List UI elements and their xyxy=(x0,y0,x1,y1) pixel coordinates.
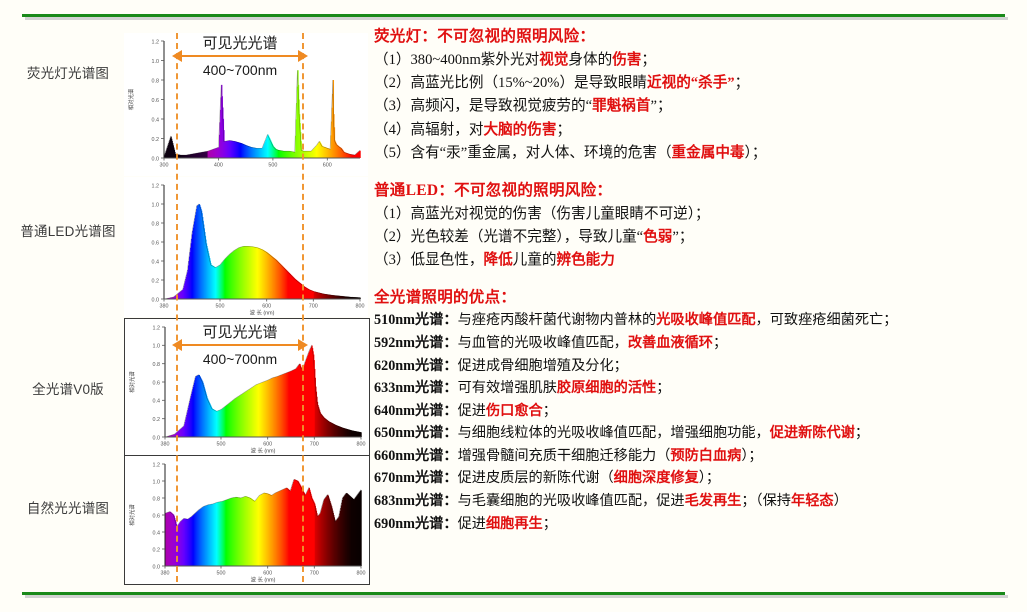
highlight-text: 伤口愈合 xyxy=(486,403,543,419)
svg-text:400: 400 xyxy=(214,163,223,169)
svg-text:0.2: 0.2 xyxy=(152,278,160,284)
svg-text:800: 800 xyxy=(356,304,365,310)
highlight-text: 预防白血病 xyxy=(670,448,741,464)
svg-text:0.8: 0.8 xyxy=(153,362,161,368)
body-text: ； xyxy=(641,52,656,68)
wavelength-label: 510nm光谱： xyxy=(374,312,458,328)
svg-text:700: 700 xyxy=(310,571,319,577)
svg-text:500: 500 xyxy=(216,304,225,310)
svg-text:0.0: 0.0 xyxy=(152,297,160,303)
body-text: 可有效增强肌肤 xyxy=(458,380,557,396)
svg-text:1.2: 1.2 xyxy=(153,325,161,331)
body-text: 与痤疮丙酸杆菌代谢物内普林的 xyxy=(458,312,657,328)
chart-label-3: 全光谱V0版 xyxy=(14,378,122,398)
svg-text:波 长 (nm): 波 长 (nm) xyxy=(251,447,276,455)
svg-text:相对光谱: 相对光谱 xyxy=(127,88,135,110)
text-line: （2）光色较差（光谱不完整），导致儿童“色弱”； xyxy=(374,226,1022,248)
body-text: ）； xyxy=(741,448,762,464)
svg-text:0.2: 0.2 xyxy=(153,547,161,553)
body-text: ；（保持 xyxy=(741,493,791,509)
body-text: ，可致痤疮细菌死亡； xyxy=(756,312,898,328)
body-text: ； xyxy=(855,425,869,441)
body-text: ； xyxy=(656,380,670,396)
text-line: （1）380~400nm紫外光对视觉身体的伤害； xyxy=(374,49,1022,71)
body-text: 与血管的光吸收峰值匹配， xyxy=(458,335,628,351)
bottom-green-rule xyxy=(22,592,1005,595)
text-block-2: 普通LED：不可忽视的照明风险：（1）高蓝光对视觉的伤害（伤害儿童眼睛不可逆）；… xyxy=(374,178,1022,272)
text-block-1: 荧光灯：不可忽视的照明风险：（1）380~400nm紫外光对视觉身体的伤害；（2… xyxy=(374,24,1022,164)
wavelength-label: 592nm光谱： xyxy=(374,335,458,351)
body-text: （2）光色较差（光谱不完整），导致儿童“ xyxy=(374,229,643,245)
text-line: （4）高辐射，对大脑的伤害； xyxy=(374,119,1022,141)
visible-band-right-guide xyxy=(302,33,304,582)
svg-text:0.6: 0.6 xyxy=(153,380,161,386)
slide-page: 荧光灯光谱图0.00.20.40.60.81.01.2300400500600相… xyxy=(0,0,1027,612)
highlight-text: 毛发再生 xyxy=(685,493,742,509)
svg-text:600: 600 xyxy=(263,442,272,448)
highlight-text: 视觉 xyxy=(539,52,568,68)
wavelength-label: 620nm光谱： xyxy=(374,358,458,374)
text-line: 592nm光谱：与血管的光吸收峰值匹配，改善血液循环； xyxy=(374,333,1022,355)
body-text: （2）高蓝光比例（15%~20%）是导致眼睛 xyxy=(374,75,647,91)
text-block-heading-1: 荧光灯：不可忽视的照明风险： xyxy=(374,24,1022,46)
svg-text:0.6: 0.6 xyxy=(152,98,160,104)
highlight-text: 促进新陈代谢 xyxy=(770,425,855,441)
body-text: ）； xyxy=(699,470,720,486)
svg-text:0.8: 0.8 xyxy=(153,496,161,502)
body-text: 促进 xyxy=(458,403,486,419)
body-text: ”； xyxy=(650,98,671,114)
svg-text:0.2: 0.2 xyxy=(153,417,161,423)
text-line: 510nm光谱：与痤疮丙酸杆菌代谢物内普林的光吸收峰值匹配，可致痤疮细菌死亡； xyxy=(374,310,1022,332)
svg-text:380: 380 xyxy=(161,571,170,577)
text-line: 670nm光谱：促进皮质层的新陈代谢（细胞深度修复）； xyxy=(374,468,1022,490)
body-text: 促进 xyxy=(458,516,486,532)
svg-text:0.0: 0.0 xyxy=(153,564,161,570)
text-line: 620nm光谱：促进成骨细胞增殖及分化； xyxy=(374,356,1022,378)
highlight-text: 年轻态 xyxy=(791,493,834,509)
highlight-text: 近视的“杀手” xyxy=(647,75,735,91)
body-text: 与毛囊细胞的光吸收峰值匹配，促进 xyxy=(458,493,685,509)
svg-text:1.0: 1.0 xyxy=(153,479,161,485)
body-text: （4）高辐射，对 xyxy=(374,122,483,138)
chart-label-4: 自然光光谱图 xyxy=(14,497,122,517)
spectrum-chart-3: 0.00.20.40.60.81.01.2380500600700800波 长 … xyxy=(124,318,370,456)
chart-label-2: 普通LED光谱图 xyxy=(14,220,122,240)
body-text: 促进成骨细胞增殖及分化； xyxy=(458,358,628,374)
svg-text:500: 500 xyxy=(217,571,226,577)
svg-text:1.0: 1.0 xyxy=(153,344,161,350)
svg-text:0.8: 0.8 xyxy=(152,78,160,84)
highlight-text: 罪魁祸首 xyxy=(592,98,650,114)
text-line: 640nm光谱：促进伤口愈合； xyxy=(374,401,1022,423)
text-line: 690nm光谱：促进细胞再生； xyxy=(374,514,1022,536)
text-line: 660nm光谱：增强骨髓间充质干细胞迁移能力（预防白血病）； xyxy=(374,446,1022,468)
wavelength-label: 683nm光谱： xyxy=(374,493,458,509)
text-block-heading-2: 普通LED：不可忽视的照明风险： xyxy=(374,178,1022,200)
svg-text:0.2: 0.2 xyxy=(152,137,160,143)
highlight-text: 细胞深度修复 xyxy=(614,470,699,486)
highlight-text: 细胞再生 xyxy=(486,516,543,532)
text-block-3: 全光谱照明的优点：510nm光谱：与痤疮丙酸杆菌代谢物内普林的光吸收峰值匹配，可… xyxy=(374,285,1022,535)
svg-text:0.4: 0.4 xyxy=(152,259,160,265)
body-text: 身体的 xyxy=(568,52,612,68)
svg-text:0.8: 0.8 xyxy=(152,221,160,227)
svg-text:相对光谱: 相对光谱 xyxy=(128,371,136,393)
body-text: ； xyxy=(713,335,727,351)
body-text: （3）高频闪，是导致视觉疲劳的“ xyxy=(374,98,592,114)
plot-area-4: 0.00.20.40.60.81.01.2380500600700800波 长 … xyxy=(125,456,369,584)
wavelength-label: 690nm光谱： xyxy=(374,516,458,532)
text-line: （1）高蓝光对视觉的伤害（伤害儿童眼睛不可逆）； xyxy=(374,203,1022,225)
text-column: 荧光灯：不可忽视的照明风险：（1）380~400nm紫外光对视觉身体的伤害；（2… xyxy=(374,24,1022,549)
svg-text:1.2: 1.2 xyxy=(152,39,160,45)
body-text: ） xyxy=(834,493,848,509)
svg-text:800: 800 xyxy=(357,442,366,448)
highlight-text: 重金属中毒 xyxy=(672,145,745,161)
svg-text:380: 380 xyxy=(160,304,169,310)
plot-area-2: 0.00.20.40.60.81.01.2380500600700800波 长 … xyxy=(124,177,368,317)
plot-area-1: 0.00.20.40.60.81.01.2300400500600相对光谱 xyxy=(124,33,368,176)
svg-text:0.4: 0.4 xyxy=(152,117,160,123)
svg-text:1.0: 1.0 xyxy=(152,202,160,208)
spectrum-chart-4: 0.00.20.40.60.81.01.2380500600700800波 长 … xyxy=(124,455,370,585)
body-text: （1）380~400nm紫外光对 xyxy=(374,52,539,68)
wavelength-label: 640nm光谱： xyxy=(374,403,458,419)
text-line: （5）含有“汞”重金属，对人体、环境的危害（重金属中毒）； xyxy=(374,142,1022,164)
svg-text:700: 700 xyxy=(310,442,319,448)
body-text: 增强骨髓间充质干细胞迁移能力（ xyxy=(458,448,671,464)
svg-text:1.2: 1.2 xyxy=(153,462,161,468)
body-text: ； xyxy=(735,75,750,91)
text-line: 683nm光谱：与毛囊细胞的光吸收峰值匹配，促进毛发再生；（保持年轻态） xyxy=(374,491,1022,513)
wavelength-label: 633nm光谱： xyxy=(374,380,458,396)
body-text: （3）低显色性， xyxy=(374,252,483,268)
body-text: ； xyxy=(543,516,557,532)
body-text: 促进皮质层的新陈代谢（ xyxy=(458,470,614,486)
text-block-heading-3: 全光谱照明的优点： xyxy=(374,285,1022,307)
svg-text:1.2: 1.2 xyxy=(152,183,160,189)
highlight-text: 胶原细胞的活性 xyxy=(557,380,656,396)
body-text: ）； xyxy=(745,145,767,161)
svg-text:800: 800 xyxy=(357,571,366,577)
svg-text:0.4: 0.4 xyxy=(153,530,161,536)
svg-text:0.0: 0.0 xyxy=(153,435,161,441)
spectrum-chart-2: 0.00.20.40.60.81.01.2380500600700800波 长 … xyxy=(124,177,368,317)
highlight-text: 光吸收峰值匹配 xyxy=(656,312,755,328)
svg-text:300: 300 xyxy=(160,163,169,169)
body-text: ； xyxy=(556,122,571,138)
wavelength-label: 660nm光谱： xyxy=(374,448,458,464)
spectrum-chart-1: 0.00.20.40.60.81.01.2300400500600相对光谱 xyxy=(124,33,368,176)
body-text: 儿童的 xyxy=(513,252,557,268)
svg-text:1.0: 1.0 xyxy=(152,59,160,65)
highlight-text: 伤害 xyxy=(612,52,641,68)
svg-text:0.6: 0.6 xyxy=(152,240,160,246)
svg-text:600: 600 xyxy=(323,163,332,169)
text-line: （3）高频闪，是导致视觉疲劳的“罪魁祸首”； xyxy=(374,95,1022,117)
svg-text:380: 380 xyxy=(161,442,170,448)
svg-text:600: 600 xyxy=(262,304,271,310)
highlight-text: 降低 xyxy=(483,252,512,268)
text-line: （2）高蓝光比例（15%~20%）是导致眼睛近视的“杀手”； xyxy=(374,72,1022,94)
wavelength-label: 650nm光谱： xyxy=(374,425,458,441)
text-line: （3）低显色性，降低儿童的辨色能力 xyxy=(374,249,1022,271)
svg-text:0.0: 0.0 xyxy=(152,156,160,162)
top-green-rule xyxy=(22,14,1005,17)
body-text: ； xyxy=(543,403,557,419)
highlight-text: 大脑的伤害 xyxy=(483,122,556,138)
body-text: 与细胞线粒体的光吸收峰值匹配，增强细胞功能， xyxy=(458,425,770,441)
svg-text:600: 600 xyxy=(263,571,272,577)
svg-text:波 长 (nm): 波 长 (nm) xyxy=(251,576,276,584)
svg-text:0.4: 0.4 xyxy=(153,399,161,405)
plot-area-3: 0.00.20.40.60.81.01.2380500600700800波 长 … xyxy=(125,319,369,455)
body-text: （5）含有“汞”重金属，对人体、环境的危害（ xyxy=(374,145,672,161)
chart-label-1: 荧光灯光谱图 xyxy=(14,62,122,82)
body-text: （1）高蓝光对视觉的伤害（伤害儿童眼睛不可逆）； xyxy=(374,206,710,222)
text-line: 633nm光谱：可有效增强肌肤胶原细胞的活性； xyxy=(374,378,1022,400)
highlight-text: 改善血液循环 xyxy=(628,335,713,351)
wavelength-label: 670nm光谱： xyxy=(374,470,458,486)
body-text: ”； xyxy=(672,229,693,245)
highlight-text: 辨色能力 xyxy=(556,252,614,268)
text-line: 650nm光谱：与细胞线粒体的光吸收峰值匹配，增强细胞功能，促进新陈代谢； xyxy=(374,423,1022,445)
svg-text:700: 700 xyxy=(309,304,318,310)
svg-text:500: 500 xyxy=(268,163,277,169)
svg-text:500: 500 xyxy=(217,442,226,448)
svg-text:波 长 (nm): 波 长 (nm) xyxy=(250,309,275,317)
visible-band-left-guide xyxy=(176,33,178,582)
highlight-text: 色弱 xyxy=(643,229,672,245)
svg-text:相对光谱: 相对光谱 xyxy=(128,504,136,526)
svg-text:0.6: 0.6 xyxy=(153,513,161,519)
